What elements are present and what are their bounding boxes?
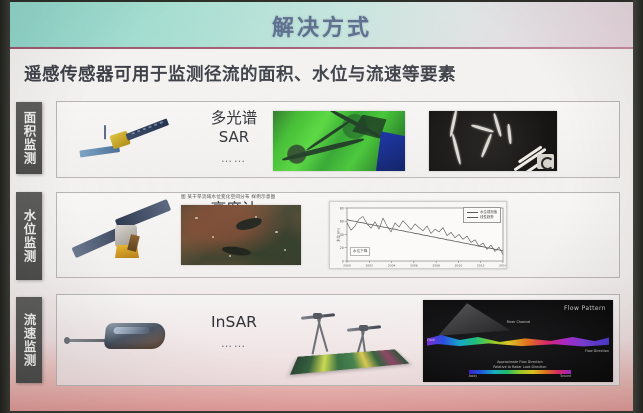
chart-legend-item: 水位观测值: [480, 210, 497, 214]
svg-text:2014: 2014: [499, 264, 507, 268]
flow-label-right: Flow Direction: [585, 349, 609, 353]
category-tab-water-level-monitoring[interactable]: 水位监测: [16, 192, 42, 280]
category-tab-label: 面积监测: [22, 111, 37, 165]
chart-annotation: 水位下降: [350, 247, 370, 256]
flow-scale-caption-2: Relative to Radar Look Direction: [469, 365, 572, 369]
svg-text:80: 80: [340, 206, 344, 210]
terrain-satellite-image: [181, 205, 301, 265]
chart-legend-item: 线性趋势: [480, 215, 494, 219]
flow-color-scale: Approximate Flow Direction Relative to R…: [469, 360, 572, 378]
photo-left-edge: [0, 0, 10, 413]
satellite-icon: [70, 100, 177, 177]
svg-text:2004: 2004: [388, 264, 396, 268]
slide-body: 遥感传感器可用于监测径流的面积、水位与流速等要素 面积监测 水位监测 流速监测 …: [8, 49, 636, 411]
svg-text:60: 60: [340, 220, 344, 224]
projected-slide-photo: 解决方式 遥感传感器可用于监测径流的面积、水位与流速等要素 面积监测 水位监测 …: [0, 0, 643, 413]
sensor-label-line1: 多光谱: [211, 109, 258, 127]
row-area-monitoring: 多光谱 SAR ……: [56, 101, 620, 178]
sensor-label-line1: InSAR: [211, 313, 257, 331]
category-tab-flow-velocity-monitoring[interactable]: 流速监测: [16, 297, 42, 383]
multispectral-river-image: [273, 111, 405, 171]
slide: 解决方式 遥感传感器可用于监测径流的面积、水位与流速等要素 面积监测 水位监测 …: [8, 2, 636, 411]
flow-pattern-title: Flow Pattern: [564, 305, 606, 312]
category-tab-area-monitoring[interactable]: 面积监测: [16, 102, 42, 174]
svg-text:2008: 2008: [432, 264, 440, 268]
flow-scale-min: Away: [469, 374, 478, 378]
category-tab-label: 流速监测: [22, 313, 37, 367]
flow-label-left: Flow: [427, 338, 435, 342]
svg-text:2000: 2000: [343, 264, 351, 268]
chart-legend: 水位观测值 线性趋势: [463, 207, 501, 223]
terrain-image-caption: 图 某干旱流域水位变化空间分布 样例示意图: [181, 194, 331, 200]
photo-right-edge: [633, 0, 643, 413]
svg-text:2006: 2006: [410, 264, 418, 268]
sensor-label-group-3: InSAR ……: [175, 313, 293, 353]
sar-water-mask-image: [429, 111, 557, 171]
sar-image-watermark-icon: [537, 154, 554, 169]
row-water-level-monitoring: 高度计 Lidar …… 图 某干旱流域水位变化空间分布 样例示意图 水位 (m…: [56, 192, 620, 278]
uav-radar-swath-illustration: [295, 301, 415, 383]
svg-text:2002: 2002: [365, 264, 373, 268]
category-tab-label: 水位监测: [22, 209, 37, 263]
row-flow-velocity-monitoring: InSAR …… Flow Pattern Flow River Channel: [56, 294, 620, 386]
svg-text:2010: 2010: [455, 264, 463, 268]
page-title: 解决方式: [8, 10, 636, 42]
flow-scale-max: Toward: [560, 374, 571, 378]
flow-pattern-image: Flow Pattern Flow River Channel Flow Dir…: [423, 300, 613, 382]
chart-y-axis-label: 水位 (m): [335, 228, 340, 242]
water-level-timeseries-chart: 水位 (m) 020406080200020022004200620082010…: [329, 201, 507, 269]
insar-spacecraft-icon: [67, 313, 185, 361]
sensor-ellipsis: ……: [175, 334, 293, 353]
flow-label-mid: River Channel: [507, 320, 531, 324]
altimeter-satellite-icon: [71, 201, 179, 269]
sensor-label-line2: SAR: [219, 128, 249, 146]
svg-text:20: 20: [340, 246, 344, 250]
subtitle: 遥感传感器可用于监测径流的面积、水位与流速等要素: [24, 61, 456, 86]
svg-text:2012: 2012: [477, 264, 485, 268]
